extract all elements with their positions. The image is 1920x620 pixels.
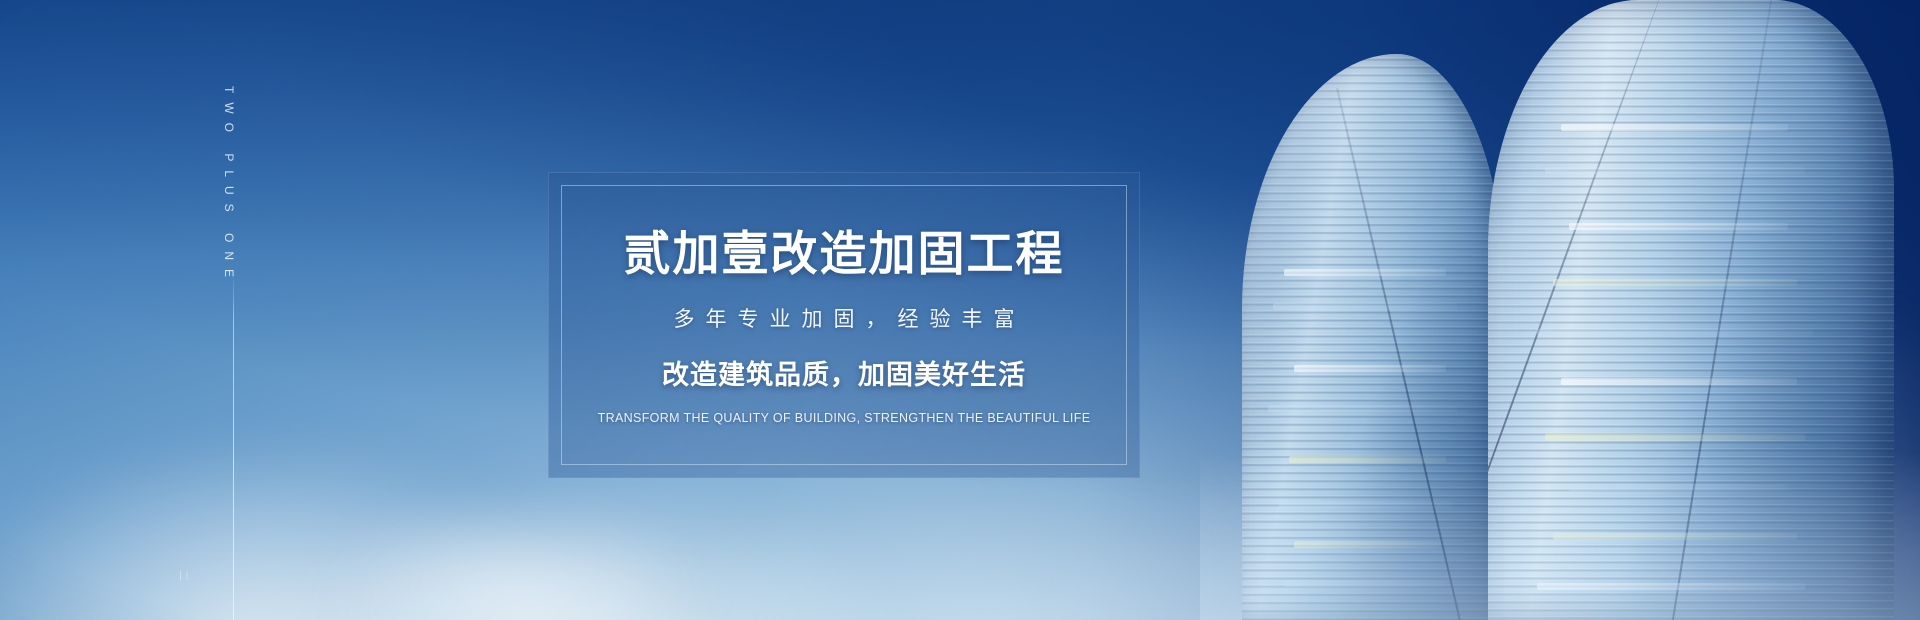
tower-right-shape xyxy=(1488,0,1894,620)
window-strip xyxy=(1294,541,1441,548)
skyscraper-illustration xyxy=(1200,0,1920,620)
window-strip xyxy=(1273,303,1456,310)
window-strip xyxy=(1569,223,1788,230)
window-strip xyxy=(1289,456,1446,463)
window-strip xyxy=(1569,484,1788,491)
window-strip xyxy=(1553,279,1797,286)
tower-floor-bands xyxy=(1488,0,1894,620)
tower-floor-bands xyxy=(1242,57,1504,620)
window-strip xyxy=(1268,405,1457,412)
window-strip xyxy=(1537,583,1805,590)
hero-slogan-en: TRANSFORM THE QUALITY OF BUILDING, STREN… xyxy=(598,411,1091,425)
window-strip xyxy=(1561,378,1796,385)
hero-title: 贰加壹改造加固工程 xyxy=(624,229,1065,282)
window-strip xyxy=(1284,580,1446,587)
window-strip xyxy=(1561,124,1788,131)
hero-banner: TWO PLUS ONE 二 贰加壹改造加固工程 多年专业加固，经验丰富 改造建… xyxy=(0,0,1920,620)
hero-text-panel: 贰加壹改造加固工程 多年专业加固，经验丰富 改造建筑品质，加固美好生活 TRAN… xyxy=(548,172,1140,478)
window-strip xyxy=(1294,365,1446,372)
window-strip xyxy=(1553,533,1797,540)
window-strip xyxy=(1279,501,1452,508)
hero-slogan-cn: 改造建筑品质，加固美好生活 xyxy=(662,359,1026,393)
hero-subtitle: 多年专业加固，经验丰富 xyxy=(663,306,1026,333)
brand-vertical-text: TWO PLUS ONE xyxy=(222,86,236,286)
panel-content: 贰加壹改造加固工程 多年专业加固，经验丰富 改造建筑品质，加固美好生活 TRAN… xyxy=(549,173,1139,477)
brand-corner-mark: 二 xyxy=(176,570,192,582)
window-strip xyxy=(1537,329,1813,336)
window-strip xyxy=(1545,434,1805,441)
window-strip xyxy=(1284,269,1446,276)
tower-left-shape xyxy=(1242,54,1504,620)
window-strip xyxy=(1545,167,1805,174)
